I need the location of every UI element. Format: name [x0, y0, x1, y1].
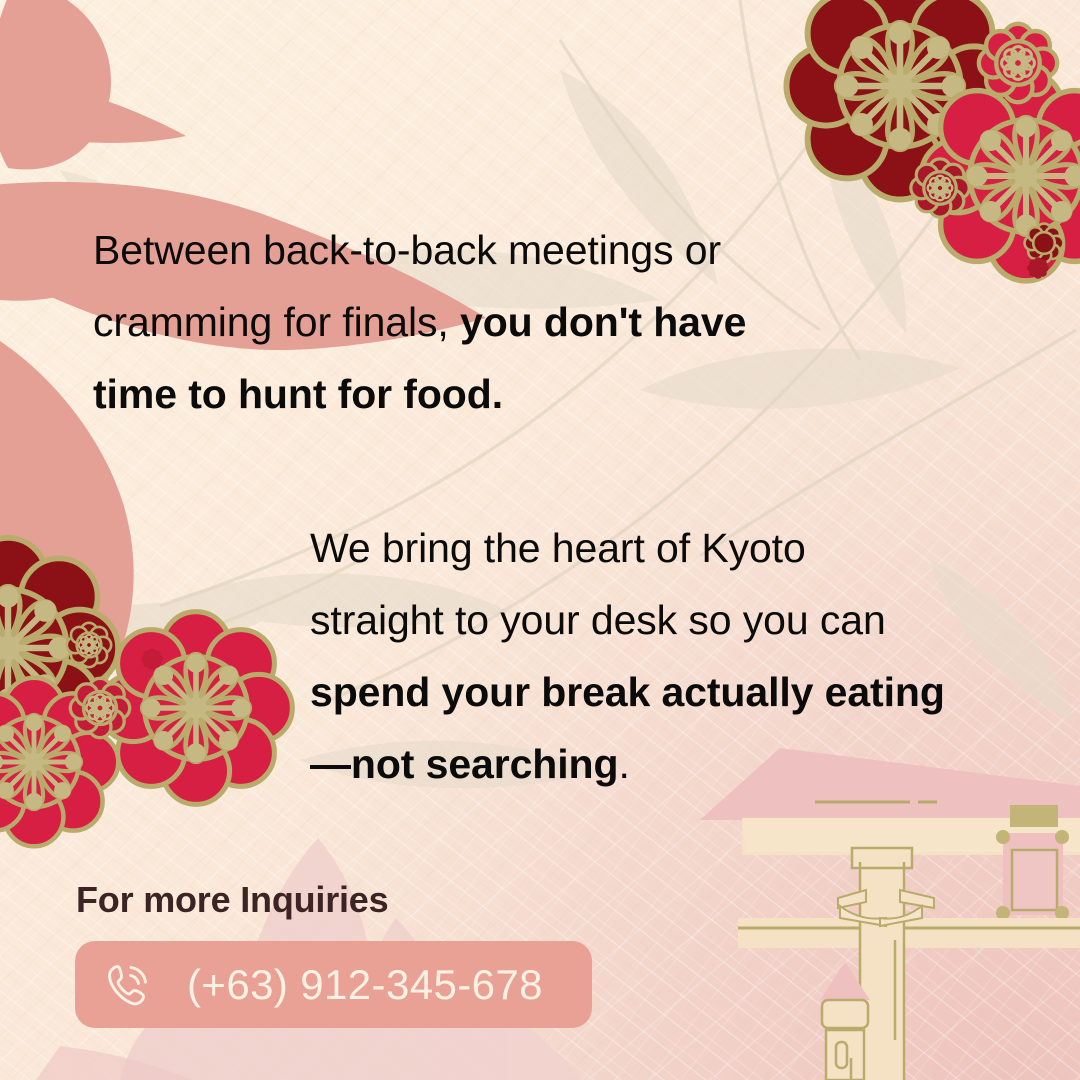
headline-1-line-3: time to hunt for food.	[93, 358, 883, 430]
headline-2-line-4: —not searching.	[310, 728, 1040, 800]
headline-paragraph-2: We bring the heart of Kyotostraight to y…	[310, 512, 1040, 800]
inquiries-label: For more Inquiries	[76, 879, 388, 921]
headline-2-line-3-run-1: spend your break actually eating	[310, 669, 945, 715]
ume-flower-small	[911, 159, 969, 217]
headline-paragraph-1: Between back-to-back meetings orcramming…	[93, 214, 883, 430]
ume-flower-small	[1025, 224, 1064, 263]
ume-flower-small	[1027, 257, 1049, 279]
headline-1-line-2-run-2: you don't have	[460, 299, 746, 345]
headline-1-line-2: cramming for finals, you don't have	[93, 286, 883, 358]
phone-ringing-icon	[101, 958, 155, 1012]
poster-canvas: Between back-to-back meetings orcramming…	[0, 0, 1080, 1080]
headline-2-line-1-run-1: We bring the heart of Kyoto	[310, 525, 806, 571]
contact-phone-pill[interactable]: (+63) 912-345-678	[75, 941, 592, 1028]
headline-2-line-4-run-1: —not searching	[310, 741, 618, 787]
headline-1-line-3-run-1: time to hunt for food.	[93, 371, 503, 417]
headline-2-line-1: We bring the heart of Kyoto	[310, 512, 1040, 584]
ume-flower-small	[70, 678, 129, 737]
phone-number-text: (+63) 912-345-678	[187, 961, 543, 1009]
headline-1-line-1-run-1: Between back-to-back meetings or	[93, 227, 721, 273]
ume-flower-small	[67, 623, 111, 667]
headline-2-line-3: spend your break actually eating	[310, 656, 1040, 728]
ume-flower-small	[979, 24, 1057, 102]
headline-1-line-1: Between back-to-back meetings or	[93, 214, 883, 286]
headline-2-line-2: straight to your desk so you can	[310, 584, 1040, 656]
headline-2-line-2-run-1: straight to your desk so you can	[310, 597, 886, 643]
headline-2-line-4-run-2: .	[618, 741, 629, 787]
ume-flower-small	[141, 648, 163, 670]
headline-1-line-2-run-1: cramming for finals,	[93, 299, 460, 345]
